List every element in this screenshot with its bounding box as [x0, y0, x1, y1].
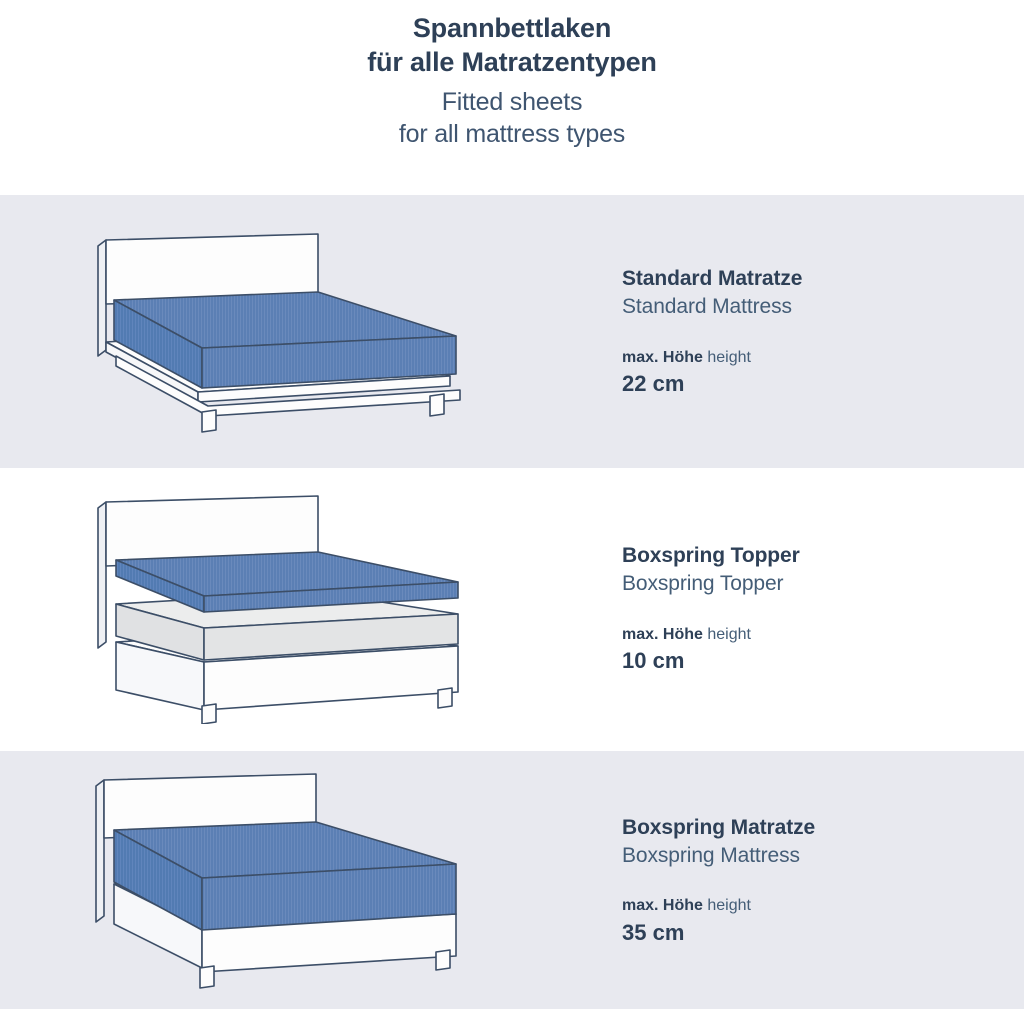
height-row: max. Höhe height — [622, 348, 994, 369]
height-unit-word: height — [707, 897, 751, 914]
illustration-boxspring-topper — [0, 476, 600, 741]
illustration-boxspring-mattress — [0, 751, 600, 1009]
height-label: max. Höhe — [622, 349, 703, 366]
height-label: max. Höhe — [622, 897, 703, 914]
height-value: 22 cm — [622, 370, 994, 398]
section-title-de: Standard Matratze — [622, 265, 994, 293]
height-unit-word: height — [707, 349, 751, 366]
section-boxspring-mattress: Boxspring Matratze Boxspring Mattress ma… — [0, 751, 1024, 1009]
section-title-en: Boxspring Mattress — [622, 842, 994, 870]
height-label: max. Höhe — [622, 626, 703, 643]
page-subtitle: Fitted sheets for all mattress types — [399, 86, 625, 151]
page-subtitle-line1: Fitted sheets — [442, 88, 583, 116]
section-title-de: Boxspring Matratze — [622, 814, 994, 842]
band-gap-2 — [0, 741, 1024, 751]
page-title: Spannbettlaken für alle Matratzentypen — [367, 12, 656, 80]
section-standard-mattress: Standard Matratze Standard Mattress max.… — [0, 195, 1024, 468]
height-row: max. Höhe height — [622, 896, 994, 917]
height-value: 35 cm — [622, 919, 994, 947]
band-gap-1 — [0, 468, 1024, 476]
info-boxspring-topper: Boxspring Topper Boxspring Topper max. H… — [600, 542, 1024, 675]
bed-standard-mattress-icon — [90, 224, 510, 439]
height-unit-word: height — [707, 626, 751, 643]
height-value: 10 cm — [622, 647, 994, 675]
page-title-line1: Spannbettlaken — [413, 13, 611, 43]
height-row: max. Höhe height — [622, 625, 994, 646]
page-header: Spannbettlaken für alle Matratzentypen F… — [0, 0, 1024, 195]
section-boxspring-topper: Boxspring Topper Boxspring Topper max. H… — [0, 476, 1024, 741]
bed-boxspring-mattress-icon — [90, 768, 510, 993]
bed-boxspring-topper-icon — [90, 494, 510, 724]
page-subtitle-line2: for all mattress types — [399, 118, 625, 151]
illustration-standard-mattress — [0, 195, 600, 468]
page-title-line2: für alle Matratzentypen — [367, 46, 656, 80]
section-title-en: Boxspring Topper — [622, 570, 994, 598]
info-boxspring-mattress: Boxspring Matratze Boxspring Mattress ma… — [600, 814, 1024, 947]
section-title-en: Standard Mattress — [622, 293, 994, 321]
info-standard-mattress: Standard Matratze Standard Mattress max.… — [600, 265, 1024, 398]
section-title-de: Boxspring Topper — [622, 542, 994, 570]
